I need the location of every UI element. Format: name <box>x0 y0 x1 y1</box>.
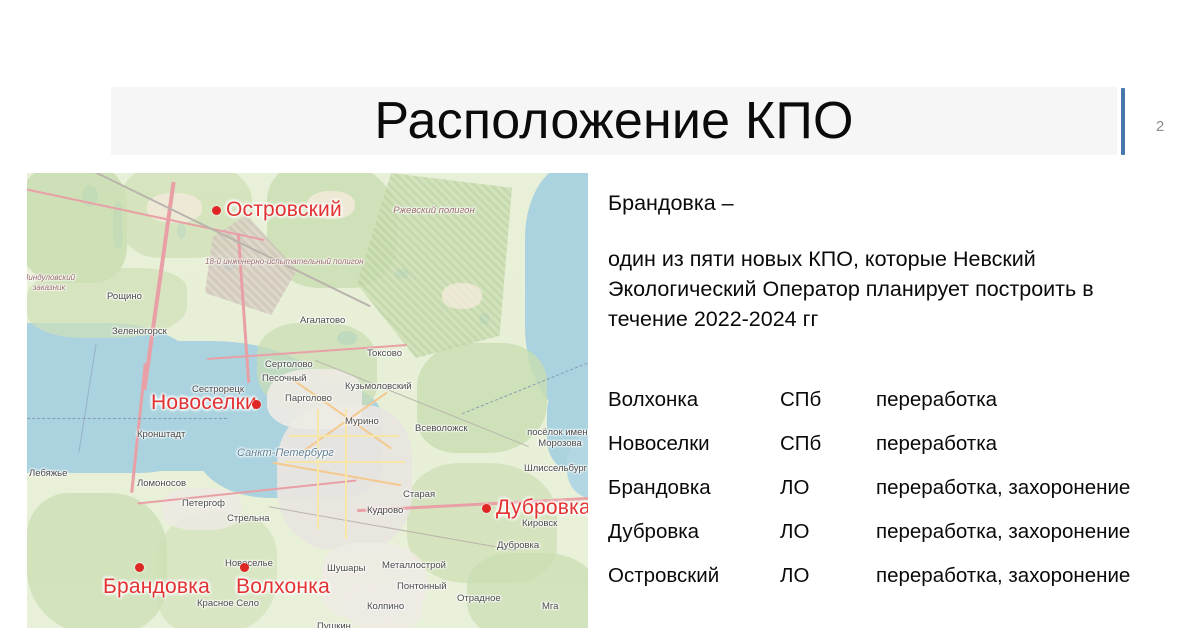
table-cell-type: переработка <box>876 388 1174 432</box>
map-place-label: Агалатово <box>300 315 345 326</box>
table-cell-type: переработка <box>876 432 1174 476</box>
map-kpo-label[interactable]: Волхонка <box>236 575 330 599</box>
map-kpo-marker-dot[interactable] <box>135 563 144 572</box>
map-place-label: Пушкин <box>317 621 351 628</box>
map-area-label-engineering-range: 18-й инженерно-испытательный полигон <box>205 257 295 267</box>
table-cell-name: Брандовка <box>608 476 780 520</box>
forest-area-8 <box>27 493 167 628</box>
description-block: Брандовка – один из пяти новых КПО, кото… <box>608 188 1174 334</box>
map-place-label: Мурино <box>345 416 379 427</box>
map-bay-label-saint-petersburg: Санкт-Петербург <box>237 447 334 459</box>
map-kpo-label[interactable]: Дубровка <box>496 496 588 520</box>
road-city-grid-2 <box>317 409 319 529</box>
map-area-label-lindulovsky: Линдуловский заказник <box>27 273 77 293</box>
map-place-label: Красное Село <box>197 598 259 609</box>
table-row: ВолхонкаСПбпереработка <box>608 388 1174 432</box>
map-place-label: Стрельна <box>227 513 270 524</box>
map-place-label: Шлиссельбург <box>524 463 587 474</box>
kpo-table-body: ВолхонкаСПбпереработкаНовоселкиСПбперера… <box>608 388 1174 608</box>
map-kpo-marker-dot[interactable] <box>252 400 261 409</box>
map-place-label: Металлострой <box>382 560 446 571</box>
field-area-3 <box>442 283 482 309</box>
map-area-label-rzhevsky-range: Ржевский полигон <box>392 205 476 216</box>
map-place-label: Кудрово <box>367 505 403 516</box>
table-cell-region: СПб <box>780 388 876 432</box>
map-place-label: Зеленогорск <box>112 326 167 337</box>
table-cell-region: ЛО <box>780 564 876 608</box>
road-city-grid-4 <box>285 461 405 463</box>
map-kpo-label[interactable]: Новоселки <box>151 391 257 415</box>
road-city-grid-1 <box>289 435 399 437</box>
table-cell-type: переработка, захоронение <box>876 520 1174 564</box>
table-cell-region: СПб <box>780 432 876 476</box>
map-place-label: Петергоф <box>182 498 225 509</box>
map-place-label: Дубровка <box>497 540 539 551</box>
map-place-label: Колпино <box>367 601 404 612</box>
map-kpo-label[interactable]: Островский <box>226 198 342 222</box>
map-place-label: Ломоносов <box>137 478 186 489</box>
table-cell-name: Волхонка <box>608 388 780 432</box>
map-place-label: Понтонный <box>397 581 447 592</box>
map-kpo-marker-dot[interactable] <box>482 504 491 513</box>
map-place-label: Всеволожск <box>415 423 467 434</box>
map-place-label: Песочный <box>262 373 306 384</box>
table-cell-type: переработка, захоронение <box>876 476 1174 520</box>
map-label-poselok-morozova: посёлок имени Морозова <box>515 427 588 449</box>
map-place-label: Мга <box>542 601 558 612</box>
forest-area-10 <box>467 553 588 628</box>
map-place-label: Сертолово <box>265 359 313 370</box>
table-cell-name: Островский <box>608 564 780 608</box>
table-row: ДубровкаЛОпереработка, захоронение <box>608 520 1174 564</box>
title-divider <box>1121 88 1125 155</box>
table-cell-region: ЛО <box>780 476 876 520</box>
page-title: Расположение КПО <box>111 87 1117 155</box>
forest-area-1 <box>27 173 127 283</box>
page-number: 2 <box>1148 118 1172 135</box>
table-cell-name: Новоселки <box>608 432 780 476</box>
table-row: НовоселкиСПбпереработка <box>608 432 1174 476</box>
table-row: ОстровскийЛОпереработка, захоронение <box>608 564 1174 608</box>
table-cell-type: переработка, захоронение <box>876 564 1174 608</box>
table-cell-name: Дубровка <box>608 520 780 564</box>
table-row: БрандовкаЛОпереработка, захоронение <box>608 476 1174 520</box>
map-place-label: Кронштадт <box>137 429 185 440</box>
map-kpo-marker-dot[interactable] <box>240 563 249 572</box>
map-place-label: Парголово <box>285 393 332 404</box>
lede-text: Брандовка – <box>608 188 1174 218</box>
slide: Расположение КПО 2 Брандовка – один из п… <box>0 0 1200 628</box>
map-image[interactable]: 18-й инженерно-испытательный полигон Рже… <box>27 173 588 628</box>
lake-small-8 <box>61 455 71 464</box>
map-kpo-label[interactable]: Брандовка <box>103 575 210 599</box>
map-place-label: Токсово <box>367 348 402 359</box>
administrative-border <box>27 418 227 419</box>
map-place-label: Кузьмоловский <box>345 381 412 392</box>
map-place-label: Отрадное <box>457 593 501 604</box>
map-place-label: Шушары <box>327 563 365 574</box>
road-city-grid-3 <box>345 409 347 539</box>
kpo-table: ВолхонкаСПбпереработкаНовоселкиСПбперера… <box>608 388 1174 608</box>
map-place-label: Лебяжье <box>29 468 67 479</box>
map-place-label: Рощино <box>107 291 142 302</box>
table-cell-region: ЛО <box>780 520 876 564</box>
map-kpo-marker-dot[interactable] <box>212 206 221 215</box>
map-place-label: Старая <box>403 489 435 500</box>
forest-area-9 <box>157 513 277 628</box>
body-text: один из пяти новых КПО, которые Невский … <box>608 244 1174 334</box>
